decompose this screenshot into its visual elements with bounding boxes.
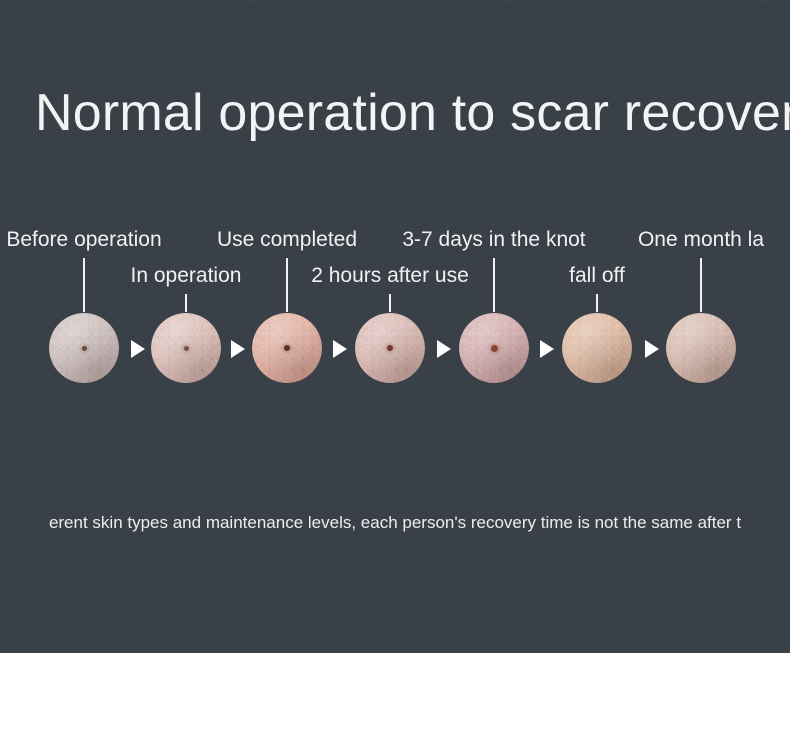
page-title: Normal operation to scar recovery pr: [35, 82, 790, 144]
leader-line-icon: [700, 258, 702, 312]
play-triangle-icon-4: [437, 340, 451, 358]
skin-shading: [666, 313, 736, 383]
stage-timeline: Before operationIn operationUse complete…: [0, 200, 790, 400]
play-triangle-icon-6: [645, 340, 659, 358]
panel-top-seam: [0, 0, 790, 5]
play-triangle-icon-2: [231, 340, 245, 358]
stage-label: One month la: [596, 227, 790, 252]
skin-sample-circle-icon: [666, 313, 736, 383]
play-triangle-icon-3: [333, 340, 347, 358]
footer-caption: erent skin types and maintenance levels,…: [49, 512, 741, 534]
stage-7: One month la: [596, 200, 790, 400]
play-triangle-icon-1: [131, 340, 145, 358]
infographic-panel: Normal operation to scar recovery pr Bef…: [0, 0, 790, 653]
play-triangle-icon-5: [540, 340, 554, 358]
